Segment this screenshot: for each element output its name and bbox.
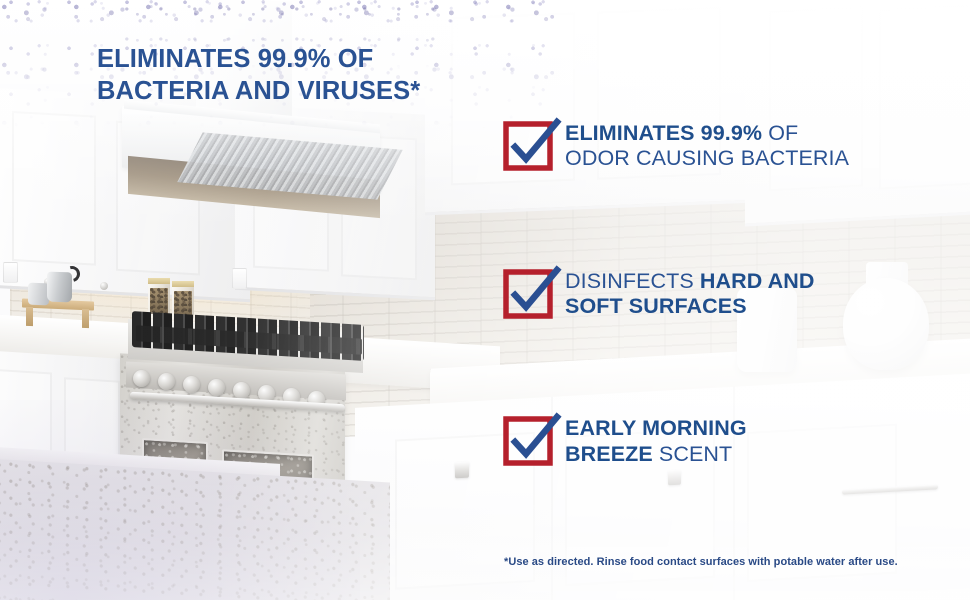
feature-light-2: SCENT (653, 442, 732, 466)
lavender-tint (0, 400, 360, 600)
disclaimer-text: *Use as directed. Rinse food contact sur… (504, 556, 898, 568)
feature-line-1: ELIMINATES 99.9% OF (565, 121, 849, 146)
feature-bold-2: SOFT SURFACES (565, 294, 747, 318)
feature-item-eliminates-odor: ELIMINATES 99.9% OF ODOR CAUSING BACTERI… (503, 120, 923, 172)
headline-line-2: BACTERIA AND VIRUSES* (97, 76, 517, 108)
feature-bold-1: EARLY MORNING (565, 416, 747, 440)
feature-line-2: ODOR CAUSING BACTERIA (565, 146, 849, 171)
feature-line-2: BREEZE SCENT (565, 442, 747, 467)
feature-text: DISINFECTS HARD AND SOFT SURFACES (565, 268, 815, 320)
feature-item-breeze-scent: EARLY MORNING BREEZE SCENT (503, 415, 923, 467)
feature-line-2: SOFT SURFACES (565, 294, 815, 319)
feature-light-1: DISINFECTS (565, 269, 700, 293)
feature-list: ELIMINATES 99.9% OF ODOR CAUSING BACTERI… (503, 120, 923, 467)
feature-bold-1: HARD AND (700, 269, 815, 293)
feature-line-1: EARLY MORNING (565, 416, 747, 441)
checkbox-checked-icon (503, 123, 549, 169)
feature-bold-1: ELIMINATES 99.9% (565, 121, 762, 145)
promo-banner: ELIMINATES 99.9% OF BACTERIA AND VIRUSES… (0, 0, 970, 600)
feature-line-1: DISINFECTS HARD AND (565, 269, 815, 294)
checkbox-checked-icon (503, 271, 549, 317)
headline: ELIMINATES 99.9% OF BACTERIA AND VIRUSES… (97, 44, 517, 107)
feature-text: EARLY MORNING BREEZE SCENT (565, 415, 747, 467)
feature-item-disinfects-surfaces: DISINFECTS HARD AND SOFT SURFACES (503, 268, 923, 320)
checkbox-checked-icon (503, 418, 549, 464)
feature-bold-2: BREEZE (565, 442, 653, 466)
feature-light-1: OF (762, 121, 798, 145)
feature-text: ELIMINATES 99.9% OF ODOR CAUSING BACTERI… (565, 120, 849, 172)
headline-line-1: ELIMINATES 99.9% OF (97, 44, 517, 76)
